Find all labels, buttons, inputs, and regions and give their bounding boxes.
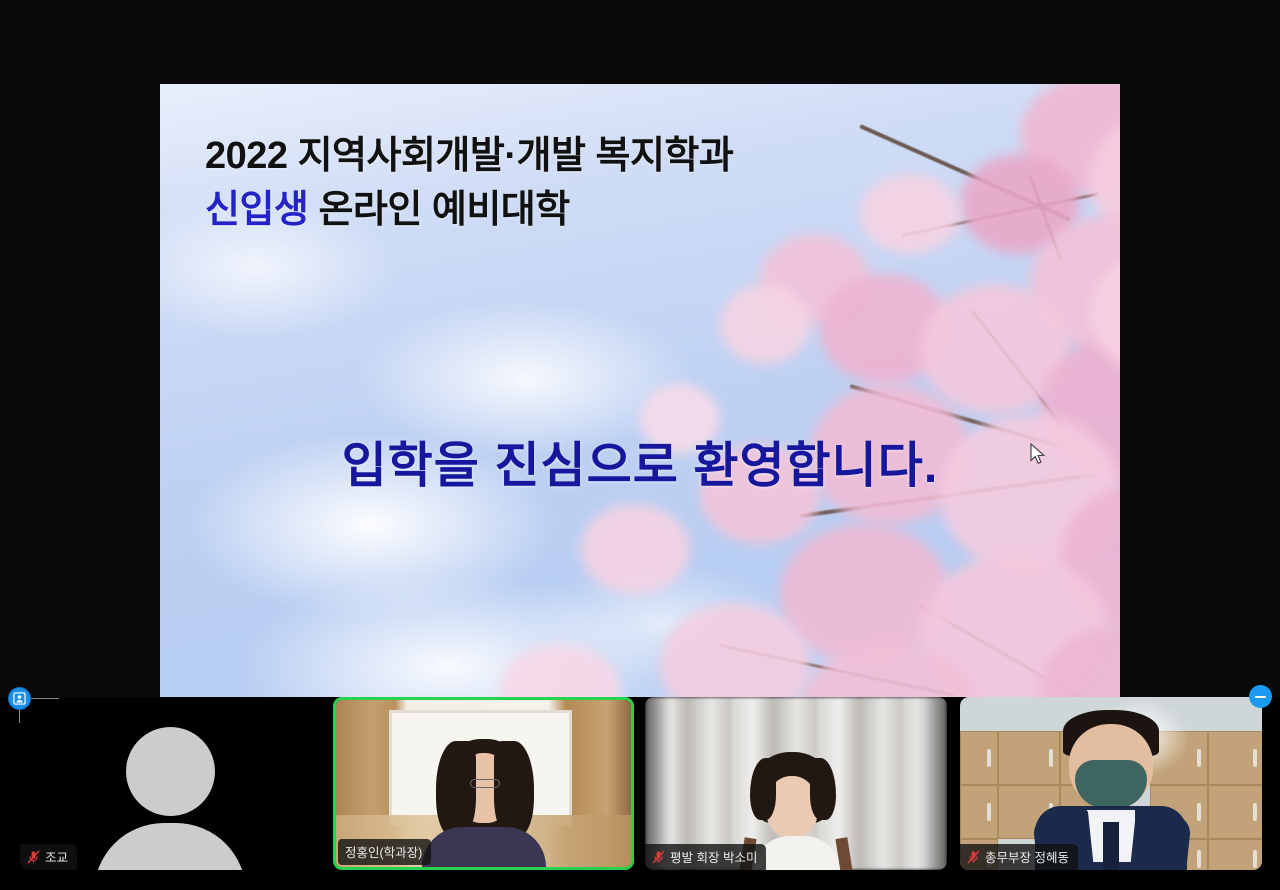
portrait-person-icon — [13, 692, 26, 705]
participant-figure — [418, 739, 550, 867]
participant-tile[interactable]: 평발 회장 박소미 — [645, 697, 947, 870]
participant-name: 조교 — [45, 847, 68, 866]
participant-name: 총무부장 정혜동 — [985, 847, 1069, 866]
slide-welcome-message: 입학을 진심으로 환영합니다. — [160, 426, 1120, 497]
mouse-cursor — [1030, 443, 1047, 471]
minus-icon — [1255, 696, 1266, 698]
participant-tile[interactable]: 정홍인(학과장) — [333, 697, 634, 870]
participant-name: 평발 회장 박소미 — [670, 847, 757, 866]
minimize-button[interactable] — [1249, 685, 1272, 708]
participant-tile[interactable]: 총무부장 정혜동 — [960, 697, 1262, 870]
slide-title-year: 2022 — [205, 135, 298, 177]
participant-name: 정홍인(학과장) — [345, 842, 422, 861]
participant-tile[interactable]: 조교 — [20, 697, 320, 870]
participant-nameplate: 조교 — [20, 844, 77, 870]
microphone-muted-icon — [652, 850, 665, 864]
participant-filmstrip: 조교 정홍인(학과장) — [0, 697, 1280, 890]
slide-title-freshman: 신입생 — [205, 189, 308, 231]
microphone-muted-icon — [967, 850, 980, 864]
participant-nameplate: 총무부장 정혜동 — [960, 844, 1078, 870]
slide-title: 2022 지역사회개발·개발 복지학과 신입생 온라인 예비대학 — [205, 130, 733, 238]
participant-nameplate: 평발 회장 박소미 — [645, 844, 766, 870]
badge-connector-line — [31, 698, 59, 699]
conference-window: 2022 지역사회개발·개발 복지학과 신입생 온라인 예비대학 입학을 진심으… — [0, 0, 1280, 890]
participant-nameplate: 정홍인(학과장) — [338, 839, 431, 865]
shared-screen-content[interactable]: 2022 지역사회개발·개발 복지학과 신입생 온라인 예비대학 입학을 진심으… — [160, 84, 1120, 697]
microphone-muted-icon — [27, 850, 40, 864]
portrait-view-badge[interactable] — [8, 687, 31, 710]
slide-title-department: 지역사회개발·개발 복지학과 — [298, 135, 734, 177]
badge-stem — [19, 709, 20, 723]
slide-title-program: 온라인 예비대학 — [308, 189, 569, 231]
